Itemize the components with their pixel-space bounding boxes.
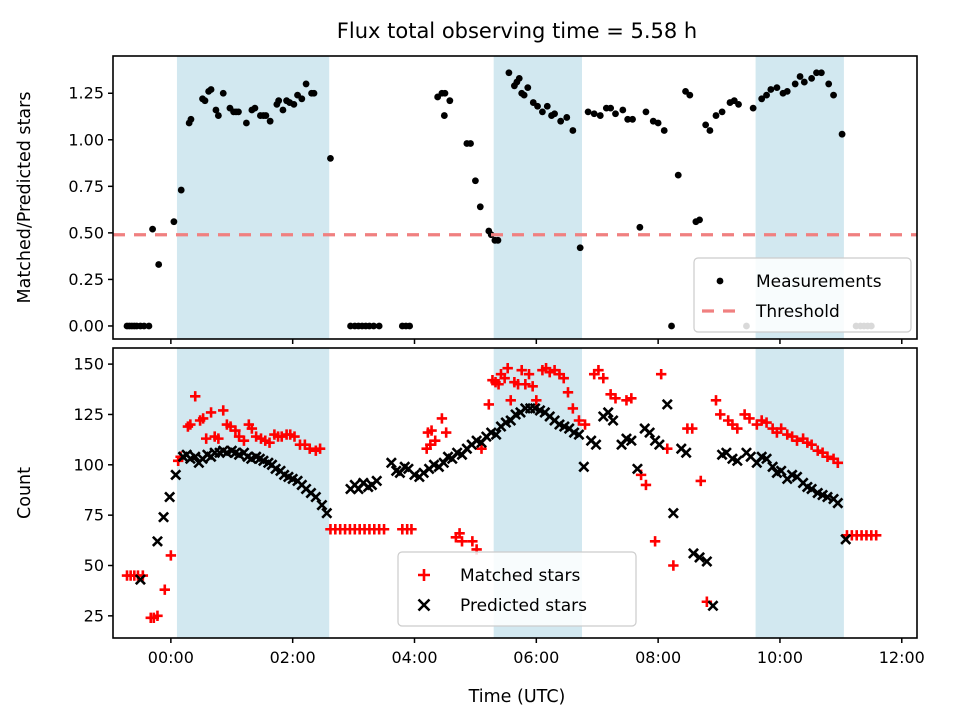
bottom-panel: 25507510012515000:0002:0004:0006:0008:00… (15, 348, 925, 667)
y-tick-label-bottom-1: 50 (84, 556, 104, 575)
shaded-band-2 (494, 56, 582, 339)
y-tick-label-top-2: 0.50 (68, 223, 104, 242)
figure-title: Flux total observing time = 5.58 h (337, 19, 697, 43)
x-tick-label-4: 08:00 (635, 648, 681, 667)
y-axis-label-top: Matched/Predicted stars (15, 92, 35, 304)
figure-canvas: Flux total observing time = 5.58 h 0.000… (0, 0, 960, 720)
y-tick-label-bottom-2: 75 (84, 506, 104, 525)
y-axis-label-bottom: Count (15, 467, 35, 519)
x-axis-label: Time (UTC) (468, 687, 566, 707)
x-tick-label-1: 02:00 (270, 648, 316, 667)
x-tick-label-3: 06:00 (513, 648, 559, 667)
x-tick-label-0: 00:00 (148, 648, 194, 667)
top-panel: 0.000.250.500.751.001.25Matched/Predicte… (15, 56, 917, 344)
x-tick-label-2: 04:00 (391, 648, 437, 667)
legend-label-matched-stars: Matched stars (460, 566, 580, 586)
y-tick-label-bottom-3: 100 (73, 455, 104, 474)
legend-label-predicted-stars: Predicted stars (460, 596, 587, 616)
legend-label-measurements: Measurements (756, 272, 882, 292)
legend-dot-icon (717, 278, 724, 285)
y-tick-label-top-1: 0.25 (68, 270, 104, 289)
y-tick-label-top-0: 0.00 (68, 316, 104, 335)
y-tick-label-top-5: 1.25 (68, 84, 104, 103)
x-tick-label-6: 12:00 (879, 648, 925, 667)
shaded-band-1 (177, 348, 329, 638)
matplotlib-figure: Flux total observing time = 5.58 h 0.000… (0, 0, 960, 720)
y-tick-label-bottom-0: 25 (84, 606, 104, 625)
x-tick-label-5: 10:00 (757, 648, 803, 667)
y-tick-label-bottom-4: 125 (73, 405, 104, 424)
legend-label-threshold: Threshold (755, 302, 840, 322)
y-tick-label-top-4: 1.00 (68, 130, 104, 149)
y-tick-label-bottom-5: 150 (73, 355, 104, 374)
y-tick-label-top-3: 0.75 (68, 177, 104, 196)
